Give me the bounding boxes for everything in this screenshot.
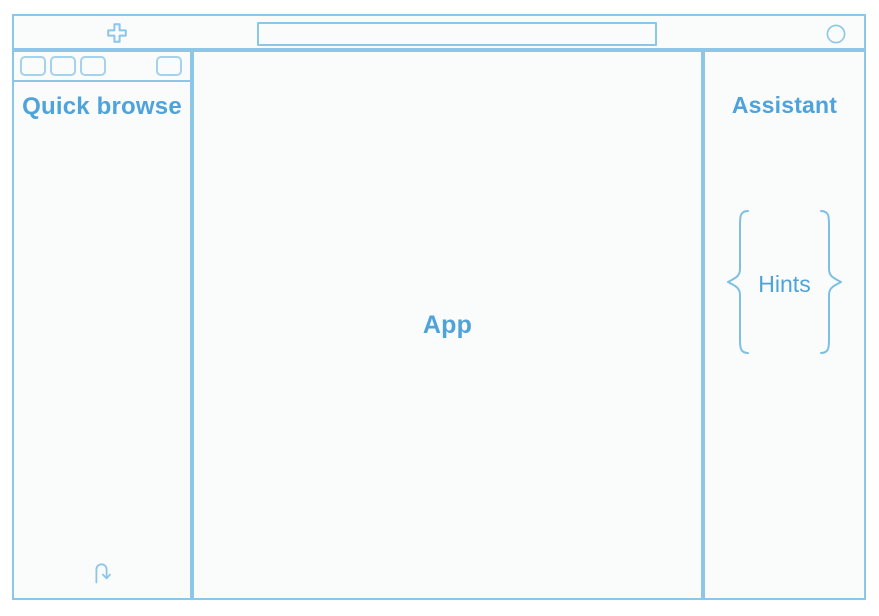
address-input[interactable] xyxy=(259,24,655,44)
account-avatar-button[interactable] xyxy=(826,24,846,44)
account-circle-icon xyxy=(826,31,846,48)
u-turn-arrow-icon xyxy=(88,558,116,589)
window-frame: Quick browse App Assistant xyxy=(12,14,866,600)
sidebar-tab-bar xyxy=(14,52,190,82)
hints-label: Hints xyxy=(758,271,810,298)
sidebar-panel: Quick browse xyxy=(12,50,192,600)
app-content-panel[interactable]: App xyxy=(192,50,703,600)
app-label: App xyxy=(194,52,701,598)
assistant-panel: Assistant Hints xyxy=(703,50,866,600)
address-bar[interactable] xyxy=(257,22,657,46)
hints-open-brace-icon xyxy=(724,207,754,362)
new-tab-button[interactable] xyxy=(102,19,132,49)
plus-icon xyxy=(106,22,128,47)
sidebar-tab-chip-1[interactable] xyxy=(20,56,46,76)
u-turn-button[interactable] xyxy=(85,556,119,590)
hints-block: Hints xyxy=(713,207,856,362)
sidebar-footer xyxy=(14,556,190,590)
top-bar xyxy=(12,14,866,50)
assistant-heading: Assistant xyxy=(705,92,864,119)
panel-row: Quick browse App Assistant xyxy=(12,50,866,600)
sidebar-tab-chip-2[interactable] xyxy=(50,56,76,76)
sidebar-heading: Quick browse xyxy=(14,92,190,123)
sidebar-tab-chip-trailing[interactable] xyxy=(156,56,182,76)
sidebar-tab-chip-3[interactable] xyxy=(80,56,106,76)
hints-close-brace-icon xyxy=(815,207,845,362)
